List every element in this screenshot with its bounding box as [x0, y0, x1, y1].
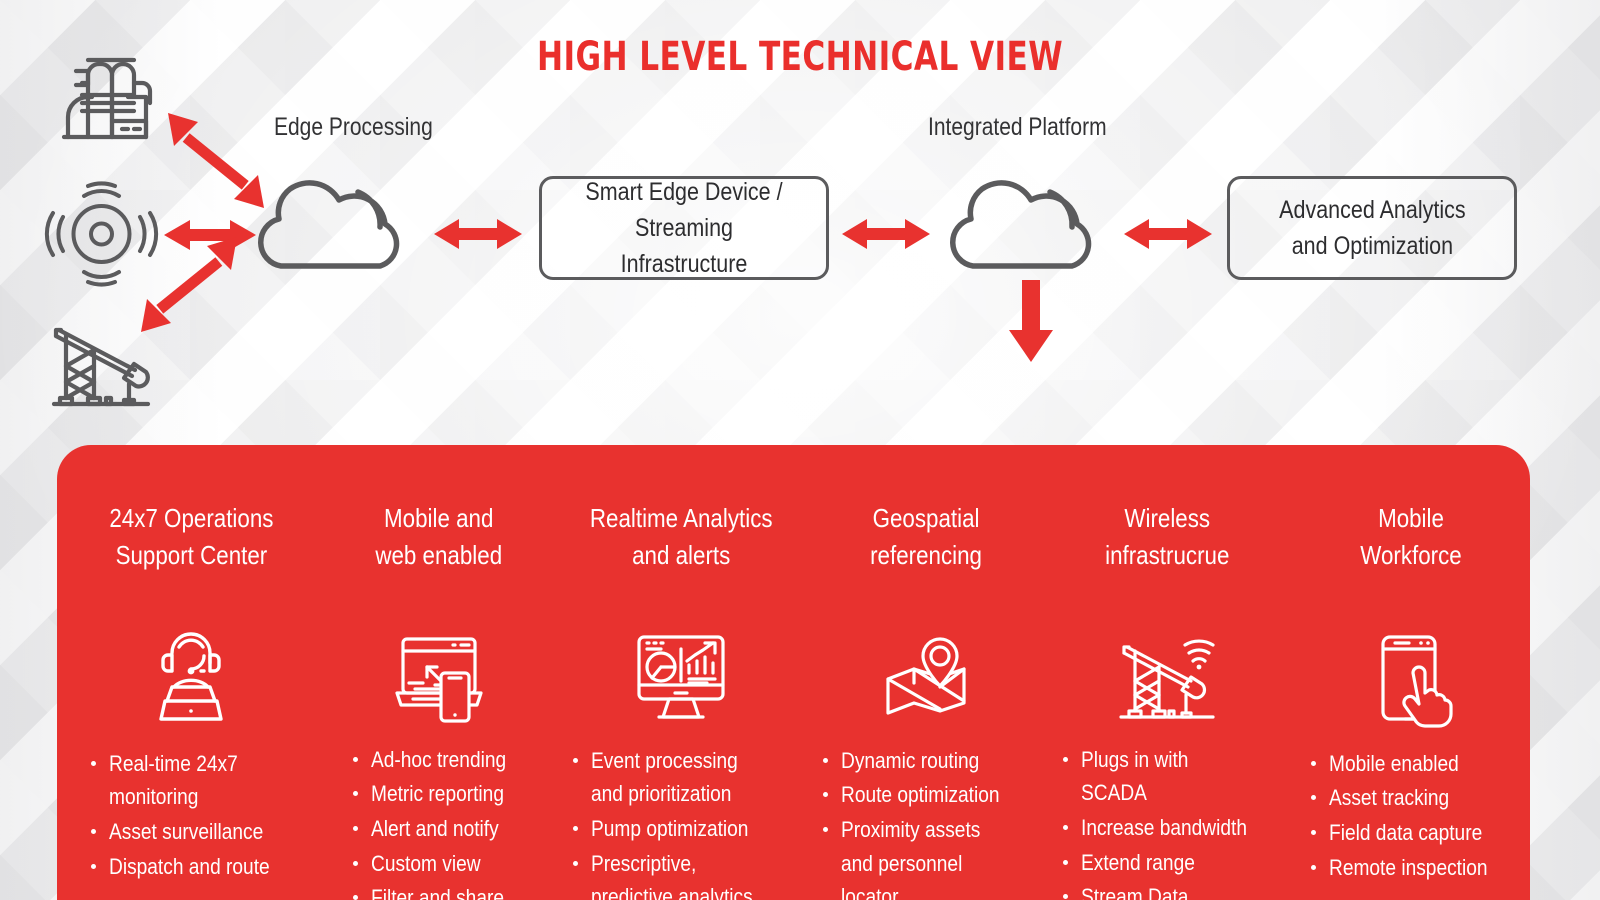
capability-bullet-list: Real-time 24x7 monitoring Asset surveill… — [65, 747, 317, 885]
list-item: Field data capture — [1305, 816, 1522, 850]
list-item: Route optimization — [817, 778, 1035, 812]
capability-column-realtime-analytics: Realtime Analytics and alerts — [553, 463, 809, 900]
capability-title-text: 24x7 Operations Support Center — [109, 500, 273, 574]
list-item: Ad-hoc trending — [347, 743, 545, 777]
list-item: Plugs in with SCADA — [1057, 743, 1283, 810]
smart-edge-line2: Streaming Infrastructure — [574, 210, 794, 283]
edge-processing-cloud-icon — [252, 168, 426, 279]
capability-title: Wireless infrastrucrue — [1095, 463, 1240, 611]
capability-title-text: Mobile Workforce — [1360, 500, 1461, 574]
map-location-pin-icon — [874, 623, 978, 728]
list-item: Event processing and prioritization — [567, 744, 801, 811]
capability-bullet-list: Plugs in with SCADA Increase bandwidth E… — [1051, 743, 1283, 900]
integrated-platform-cloud-icon — [944, 168, 1118, 279]
page-title: HIGH LEVEL TECHNICAL VIEW — [176, 34, 1424, 80]
list-item: Pump optimization — [567, 812, 801, 846]
arrow-smartedge-to-platform — [842, 212, 930, 256]
capability-title-text: Mobile and web enabled — [376, 500, 503, 574]
capability-column-geospatial: Geospatial referencing Dynamic ro — [809, 463, 1043, 900]
capability-bullet-list: Mobile enabled Asset tracking Field data… — [1299, 747, 1522, 886]
capability-title-text: Wireless infrastrucrue — [1105, 500, 1229, 574]
pumpjack-wifi-icon — [1113, 623, 1221, 727]
list-item: Prescriptive, predictive analytics — [567, 847, 801, 900]
capability-title: Mobile Workforce — [1352, 463, 1470, 611]
list-item: Asset tracking — [1305, 781, 1522, 815]
advanced-line2: and Optimization — [1279, 228, 1465, 264]
capability-title-text: Realtime Analytics and alerts — [590, 500, 773, 574]
laptop-mobile-icon — [387, 623, 491, 727]
infographic-canvas: HIGH LEVEL TECHNICAL VIEW — [0, 0, 1600, 900]
smart-edge-line1: Smart Edge Device / — [574, 174, 794, 210]
list-item: Metric reporting — [347, 777, 545, 811]
arrow-refinery-to-edge — [160, 108, 272, 213]
capability-bullet-list: Ad-hoc trending Metric reporting Alert a… — [333, 743, 545, 900]
list-item: Asset surveillance — [85, 815, 317, 849]
capability-bullet-list: Event processing and prioritization Pump… — [561, 744, 801, 900]
list-item: Stream Data — [1057, 880, 1283, 900]
capability-column-mobile-web: Mobile and web enabled — [325, 463, 553, 900]
capability-title: Realtime Analytics and alerts — [575, 463, 787, 611]
smart-edge-device-box: Smart Edge Device / Streaming Infrastruc… — [539, 176, 829, 280]
capability-column-wireless: Wireless infrastrucrue — [1043, 463, 1291, 900]
list-item: Dispatch and route — [85, 850, 317, 884]
arrow-edge-to-smartedge — [434, 212, 522, 256]
capability-title: Geospatial referencing — [861, 463, 991, 611]
capability-title: 24x7 Operations Support Center — [96, 463, 287, 611]
capability-title: Mobile and web enabled — [365, 463, 512, 611]
capabilities-panel: 24x7 Operations Support Center — [57, 445, 1530, 900]
list-item: Real-time 24x7 monitoring — [85, 747, 317, 814]
list-item: Increase bandwidth — [1057, 811, 1283, 845]
capability-column-operations-support: 24x7 Operations Support Center — [57, 463, 325, 900]
list-item: Custom view — [347, 847, 545, 881]
list-item: Extend range — [1057, 846, 1283, 880]
advanced-analytics-box: Advanced Analytics and Optimization — [1227, 176, 1517, 280]
list-item: Proximity assets and personnel locator — [817, 813, 1035, 900]
list-item: Remote inspection — [1305, 851, 1522, 885]
list-item: Dynamic routing — [817, 744, 1035, 778]
capability-bullet-list: Dynamic routing Route optimization Proxi… — [817, 744, 1035, 900]
list-item: Filter and share — [347, 881, 545, 900]
dashboard-monitor-icon — [629, 623, 733, 728]
advanced-line1: Advanced Analytics — [1279, 192, 1465, 228]
integrated-platform-label: Integrated Platform — [928, 113, 1107, 142]
capability-title-text: Geospatial referencing — [870, 500, 982, 574]
list-item: Alert and notify — [347, 812, 545, 846]
edge-processing-label: Edge Processing — [274, 113, 433, 142]
capability-column-mobile-workforce: Mobile Workforce Mobile enabled — [1291, 463, 1530, 900]
support-agent-laptop-icon — [139, 623, 243, 731]
list-item: Mobile enabled — [1305, 747, 1522, 781]
arrow-pumpjack-to-edge — [133, 232, 245, 337]
arrow-platform-to-capabilities — [1006, 280, 1056, 362]
refinery-plant-icon — [52, 45, 156, 150]
smartphone-tap-icon — [1359, 623, 1463, 731]
arrow-platform-to-analytics — [1124, 212, 1212, 256]
